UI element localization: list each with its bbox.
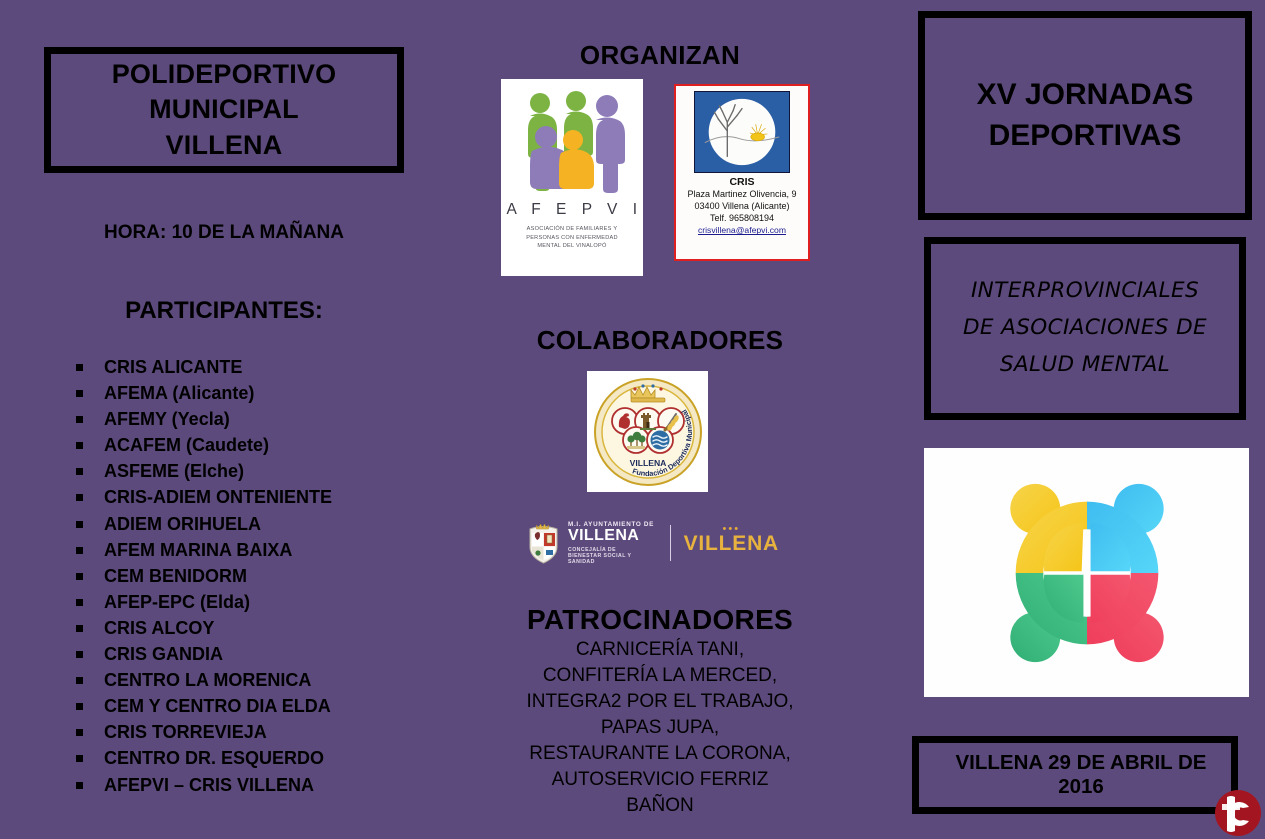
organizers-heading: ORGANIZAN bbox=[470, 40, 850, 71]
cris-phone: Telf. 965808194 bbox=[710, 212, 774, 224]
event-subtitle-box: INTERPROVINCIALES DE ASOCIACIONES DE SAL… bbox=[924, 237, 1246, 420]
list-item: AFEP-EPC (Elda) bbox=[72, 589, 492, 615]
fundacion-deportiva-crest-card: VILLENA Fundación Deportiva Municipal bbox=[587, 371, 708, 492]
poster-canvas: POLIDEPORTIVO MUNICIPAL VILLENA HORA: 10… bbox=[0, 0, 1265, 839]
list-item: CRIS-ADIEM ONTENIENTE bbox=[72, 484, 492, 510]
cris-address-line-2: 03400 Villena (Alicante) bbox=[695, 200, 790, 212]
sponsor-item: AUTOSERVICIO FERRIZ bbox=[470, 767, 850, 793]
event-title-line-2: DEPORTIVAS bbox=[989, 116, 1182, 157]
event-subtitle-line-2: DE ASOCIACIONES DE bbox=[963, 310, 1207, 347]
participants-heading: PARTICIPANTES: bbox=[44, 297, 404, 325]
list-item: CRIS GANDIA bbox=[72, 641, 492, 667]
sponsor-item: INTEGRA2 POR EL TRABAJO, bbox=[470, 689, 850, 715]
list-item: AFEMY (Yecla) bbox=[72, 406, 492, 432]
cris-address-line-1: Plaza Martinez Olivencia, 9 bbox=[687, 188, 796, 200]
four-people-circle-icon bbox=[980, 466, 1194, 680]
cris-email-link[interactable]: crisvillena@afepvi.com bbox=[698, 225, 786, 235]
afepvi-wordmark: A F E P V I bbox=[501, 201, 642, 219]
event-time-text: HORA: 10 DE LA MAÑANA bbox=[44, 222, 404, 244]
sponsor-item: CARNICERÍA TANI, bbox=[470, 637, 850, 663]
afepvi-subtitle-line-3: MENTAL DEL VINALOPÓ bbox=[512, 242, 632, 251]
list-item: ADIEM ORIHUELA bbox=[72, 511, 492, 537]
ayuntamiento-line-4: BIENESTAR SOCIAL Y SANIDAD bbox=[568, 553, 658, 565]
fundacion-deportiva-crest-icon: VILLENA Fundación Deportiva Municipal bbox=[592, 376, 704, 488]
brand-underline-text bbox=[684, 555, 779, 560]
sponsors-list: CARNICERÍA TANI, CONFITERÍA LA MERCED, I… bbox=[470, 637, 850, 819]
afepvi-subtitle: ASOCIACIÓN DE FAMILIARES Y PERSONAS CON … bbox=[512, 225, 632, 251]
ayuntamiento-line-2: VILLENA bbox=[568, 528, 658, 545]
tc-circle-logo-icon bbox=[1213, 788, 1263, 838]
venue-line-2: MUNICIPAL bbox=[149, 92, 299, 128]
list-item: CRIS TORREVIEJA bbox=[72, 719, 492, 745]
villena-brand-mark: ••• VILLENA bbox=[684, 526, 779, 561]
list-item: CENTRO DR. ESQUERDO bbox=[72, 745, 492, 771]
list-item: AFEPVI – CRIS VILLENA bbox=[72, 772, 492, 798]
crest-bottom-label: VILLENA bbox=[629, 458, 666, 468]
sponsor-item: PAPAS JUPA, bbox=[470, 715, 850, 741]
list-item: ASFEME (Elche) bbox=[72, 458, 492, 484]
event-date-box: VILLENA 29 DE ABRIL DE 2016 bbox=[912, 736, 1238, 814]
list-item: CEM Y CENTRO DIA ELDA bbox=[72, 693, 492, 719]
sponsor-item: CONFITERÍA LA MERCED, bbox=[470, 663, 850, 689]
list-item: CRIS ALICANTE bbox=[72, 354, 492, 380]
sponsors-heading: PATROCINADORES bbox=[470, 604, 850, 636]
afepvi-logo-card: A F E P V I ASOCIACIÓN DE FAMILIARES Y P… bbox=[501, 79, 643, 276]
collaborators-heading: COLABORADORES bbox=[470, 325, 850, 356]
event-subtitle-line-3: SALUD MENTAL bbox=[1000, 347, 1170, 384]
cris-contact-card: CRIS Plaza Martinez Olivencia, 9 03400 V… bbox=[674, 84, 810, 261]
villena-coat-of-arms-icon bbox=[527, 522, 560, 564]
villena-brand-text: VILLENA bbox=[684, 533, 779, 555]
list-item: CEM BENIDORM bbox=[72, 563, 492, 589]
list-item: ACAFEM (Caudete) bbox=[72, 432, 492, 458]
list-item: AFEMA (Alicante) bbox=[72, 380, 492, 406]
list-item: AFEM MARINA BAIXA bbox=[72, 537, 492, 563]
ayuntamiento-text-block: M.I. AYUNTAMIENTO DE VILLENA CONCEJALÍA … bbox=[568, 521, 658, 565]
teamwork-image-card bbox=[924, 448, 1249, 697]
event-date-text: VILLENA 29 DE ABRIL DE 2016 bbox=[931, 751, 1231, 799]
list-item: CRIS ALCOY bbox=[72, 615, 492, 641]
venue-line-3: VILLENA bbox=[166, 128, 283, 164]
venue-box: POLIDEPORTIVO MUNICIPAL VILLENA bbox=[44, 47, 404, 173]
event-title-line-1: XV JORNADAS bbox=[977, 75, 1194, 116]
venue-line-1: POLIDEPORTIVO bbox=[112, 57, 337, 93]
list-item: CENTRO LA MORENICA bbox=[72, 667, 492, 693]
afepvi-figures-icon bbox=[512, 89, 632, 193]
afepvi-subtitle-line-2: PERSONAS CON ENFERMEDAD bbox=[512, 234, 632, 243]
event-title-box: XV JORNADAS DEPORTIVAS bbox=[918, 11, 1252, 220]
vertical-divider bbox=[670, 525, 671, 561]
cris-name: CRIS bbox=[729, 176, 754, 188]
cris-tree-artwork-icon bbox=[694, 91, 790, 173]
afepvi-subtitle-line-1: ASOCIACIÓN DE FAMILIARES Y bbox=[512, 225, 632, 234]
ayuntamiento-villena-logo: M.I. AYUNTAMIENTO DE VILLENA CONCEJALÍA … bbox=[527, 519, 779, 567]
event-subtitle-line-1: INTERPROVINCIALES bbox=[971, 273, 1199, 310]
sponsor-item: RESTAURANTE LA CORONA, bbox=[470, 741, 850, 767]
sponsor-item: BAÑON bbox=[470, 793, 850, 819]
participants-list: CRIS ALICANTE AFEMA (Alicante) AFEMY (Ye… bbox=[72, 354, 492, 798]
